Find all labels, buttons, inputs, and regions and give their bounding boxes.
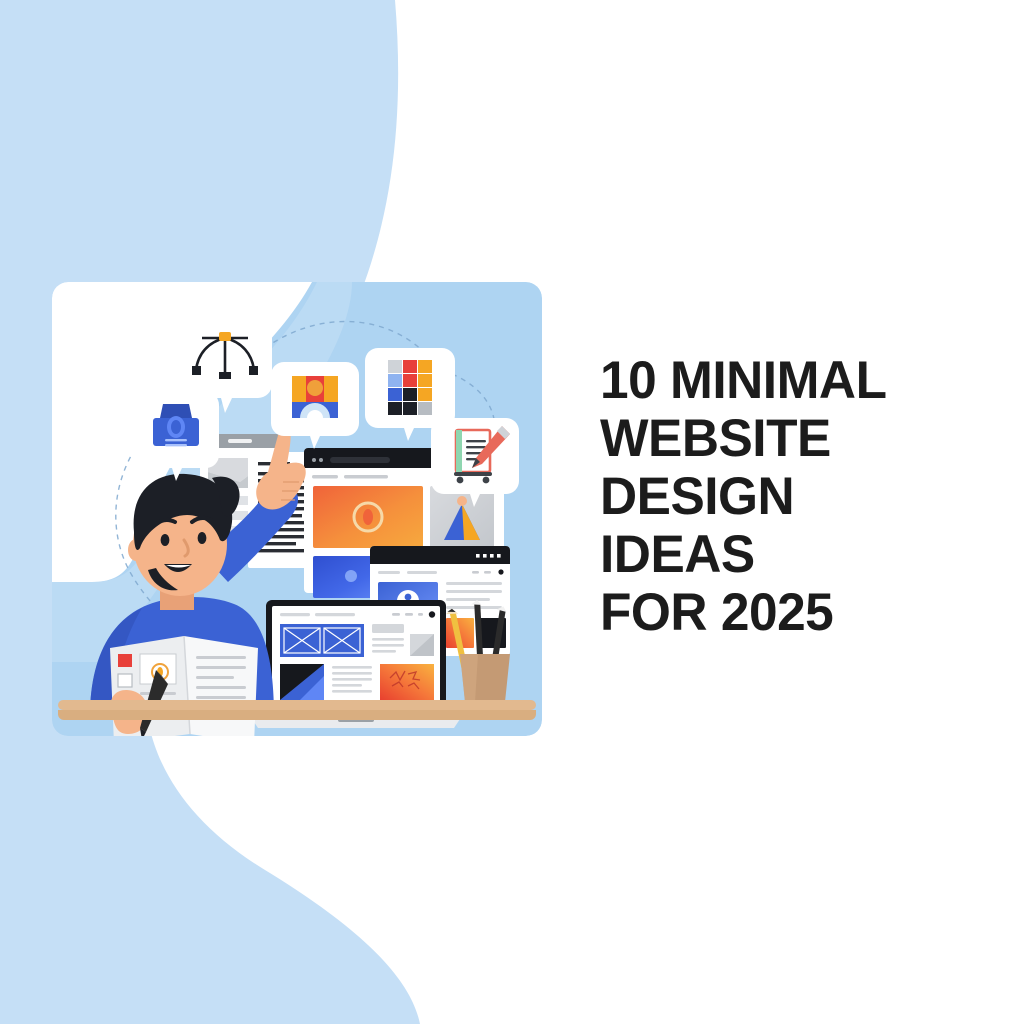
headline-line-5: FOR 2025 — [600, 584, 969, 642]
desk — [58, 700, 536, 720]
speech-bubble-camera[interactable] — [131, 392, 219, 481]
headline-line-2: WEBSITE — [600, 410, 969, 468]
headline-line-4: IDEAS — [600, 526, 969, 584]
page-title: 10 MINIMAL WEBSITE DESIGN IDEAS FOR 2025 — [600, 352, 980, 642]
headline-line-1: 10 MINIMAL — [600, 352, 969, 410]
poster-canvas: 10 MINIMAL WEBSITE DESIGN IDEAS FOR 2025 — [0, 0, 1024, 1024]
headline-line-3: DESIGN — [600, 468, 969, 526]
speech-bubble-notepad[interactable] — [431, 418, 519, 507]
speech-bubble-photo[interactable] — [271, 362, 359, 449]
photo-portrait-icon — [292, 376, 338, 418]
illustration-card — [52, 282, 542, 736]
illustration-svg — [52, 282, 542, 736]
